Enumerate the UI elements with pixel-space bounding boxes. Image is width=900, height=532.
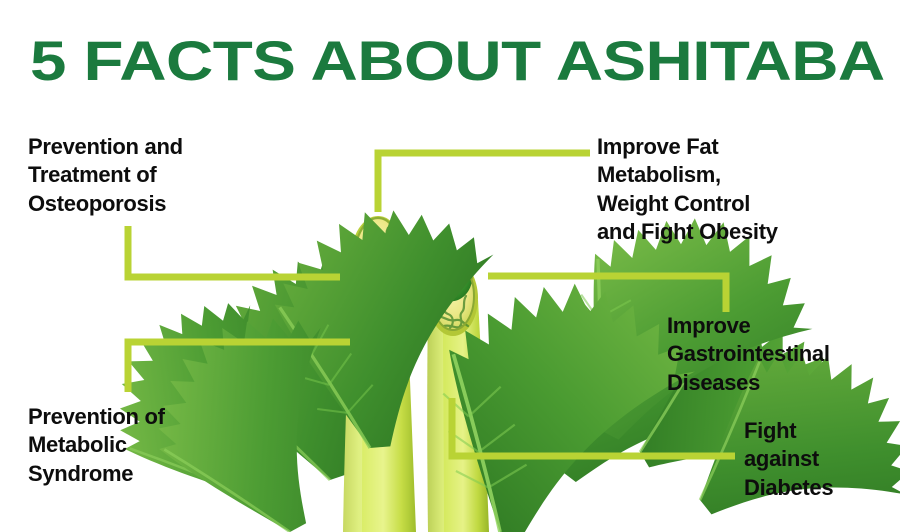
- connector-fat-metabolism: [378, 153, 590, 212]
- fact-line: Diseases: [667, 369, 830, 397]
- fact-line: Fight: [744, 417, 833, 445]
- fact-label-diabetes: Fight against Diabetes: [744, 417, 833, 502]
- fact-line: Syndrome: [28, 460, 165, 488]
- fact-label-gastrointestinal: Improve Gastrointestinal Diseases: [667, 312, 830, 397]
- page-title: 5 FACTS ABOUT ASHITABA: [30, 28, 900, 93]
- fact-line: and Fight Obesity: [597, 218, 778, 246]
- fact-label-metabolic-syndrome: Prevention of Metabolic Syndrome: [28, 403, 165, 488]
- fact-label-osteoporosis: Prevention and Treatment of Osteoporosis: [28, 133, 183, 218]
- fact-line: Prevention and: [28, 133, 183, 161]
- connector-gastrointestinal: [488, 276, 726, 312]
- infographic-canvas: 5 FACTS ABOUT ASHITABA Prevention and Tr…: [0, 0, 900, 532]
- connector-osteoporosis: [128, 226, 340, 277]
- fact-label-fat-metabolism: Improve Fat Metabolism, Weight Control a…: [597, 133, 778, 247]
- fact-line: Gastrointestinal: [667, 340, 830, 368]
- connector-metabolic-syndrome: [128, 342, 350, 392]
- fact-line: Osteoporosis: [28, 190, 183, 218]
- fact-line: Treatment of: [28, 161, 183, 189]
- fact-line: Diabetes: [744, 474, 833, 502]
- fact-line: against: [744, 445, 833, 473]
- fact-line: Weight Control: [597, 190, 778, 218]
- fact-line: Prevention of: [28, 403, 165, 431]
- fact-line: Metabolic: [28, 431, 165, 459]
- connector-diabetes: [452, 398, 735, 456]
- fact-line: Metabolism,: [597, 161, 778, 189]
- fact-line: Improve: [667, 312, 830, 340]
- fact-line: Improve Fat: [597, 133, 778, 161]
